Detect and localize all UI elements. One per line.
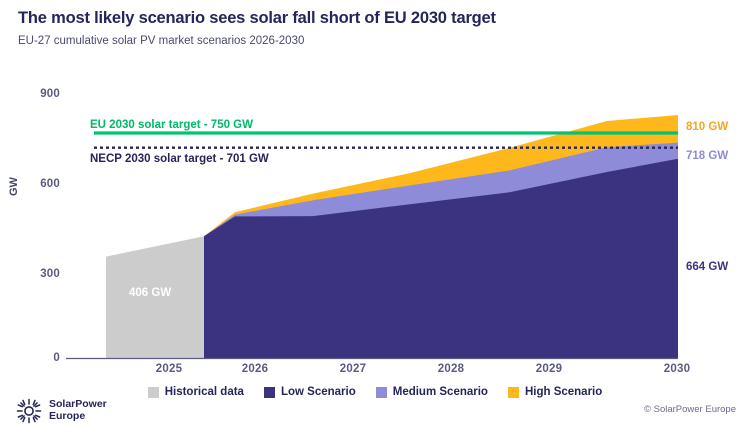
x-tick-2026: 2026 [215, 363, 295, 375]
legend-label: Low Scenario [281, 386, 356, 398]
legend-label: Historical data [165, 386, 244, 398]
legend-swatch-icon [148, 387, 159, 398]
legend-item-high[interactable]: High Scenario [508, 386, 602, 398]
y-tick-600: 600 [16, 178, 60, 190]
legend-label: Medium Scenario [393, 386, 488, 398]
x-tick-2028: 2028 [411, 363, 491, 375]
legend-label: High Scenario [525, 386, 602, 398]
chart-page: The most likely scenario sees solar fall… [0, 0, 750, 436]
medium-scenario-end-label: 718 GW [686, 150, 728, 162]
page-subtitle: EU-27 cumulative solar PV market scenari… [18, 35, 304, 47]
y-tick-0: 0 [16, 352, 60, 364]
legend-item-medium[interactable]: Medium Scenario [376, 386, 488, 398]
high-scenario-end-label: 810 GW [686, 121, 728, 133]
brand-name: SolarPower Europe [49, 399, 107, 423]
eu-target-label: EU 2030 solar target - 750 GW [90, 119, 253, 131]
low-scenario-end-label: 664 GW [686, 261, 728, 273]
sunburst-icon [16, 398, 42, 424]
x-tick-2030: 2030 [637, 363, 717, 375]
necp-target-label: NECP 2030 solar target - 701 GW [90, 153, 269, 165]
y-tick-300: 300 [16, 268, 60, 280]
chart-legend: Historical data Low Scenario Medium Scen… [0, 386, 750, 398]
legend-swatch-icon [376, 387, 387, 398]
legend-item-historical[interactable]: Historical data [148, 386, 244, 398]
x-tick-2025: 2025 [129, 363, 209, 375]
copyright-notice: © SolarPower Europe [644, 404, 736, 415]
x-tick-2029: 2029 [509, 363, 589, 375]
y-tick-900: 900 [16, 88, 60, 100]
historical-value-label: 406 GW [129, 287, 171, 299]
legend-item-low[interactable]: Low Scenario [264, 386, 356, 398]
page-title: The most likely scenario sees solar fall… [18, 9, 496, 28]
legend-swatch-icon [508, 387, 519, 398]
brand-logo: SolarPower Europe [16, 398, 107, 424]
y-axis-label: GW [8, 177, 20, 196]
legend-swatch-icon [264, 387, 275, 398]
x-tick-2027: 2027 [313, 363, 393, 375]
